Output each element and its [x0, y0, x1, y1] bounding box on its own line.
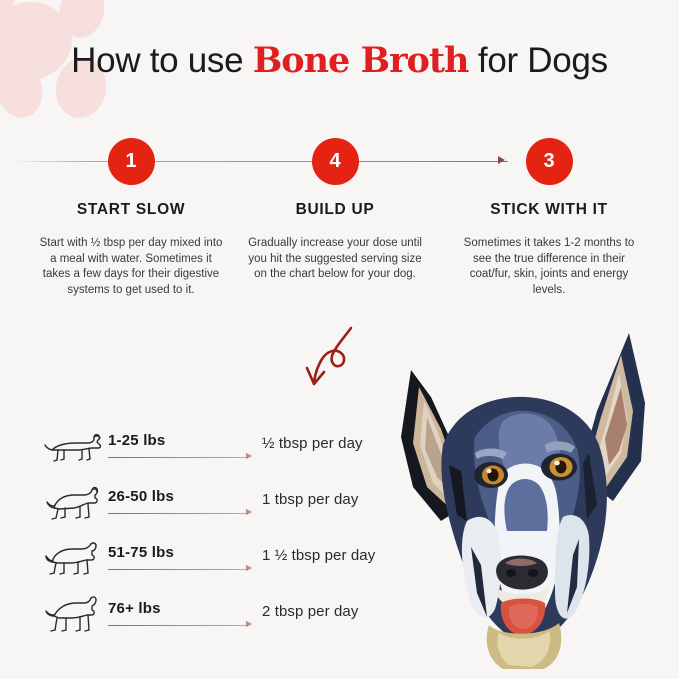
- dose-value-3: 1 ½ tbsp per day: [262, 547, 375, 564]
- step-label-1: START SLOW: [31, 201, 231, 219]
- row-connector-line-2: [108, 513, 246, 514]
- step-label-3: STICK WITH IT: [449, 201, 649, 219]
- table-row: 76+ lbs 2 tbsp per day: [0, 592, 420, 648]
- dose-value-4: 2 tbsp per day: [262, 603, 358, 620]
- row-connector-line-4: [108, 625, 246, 626]
- infographic-canvas: How to use Bone Broth for Dogs 1 START S…: [0, 0, 679, 679]
- title-prefix: How to use: [71, 41, 253, 80]
- step-item-3: 3 STICK WITH IT Sometimes it takes 1-2 m…: [449, 138, 649, 298]
- step-number-badge-1: 1: [108, 138, 155, 185]
- step-label-2: BUILD UP: [235, 201, 435, 219]
- title-accent: Bone Broth: [253, 40, 469, 81]
- curved-down-left-arrow-icon: [298, 322, 368, 394]
- table-row: 1-25 lbs ½ tbsp per day: [0, 424, 420, 480]
- row-connector-line-3: [108, 569, 246, 570]
- title-suffix: for Dogs: [469, 41, 608, 80]
- row-arrowhead-icon-4: [246, 621, 252, 627]
- large-dog-icon: [44, 540, 108, 582]
- xlarge-dog-icon: [44, 596, 108, 638]
- dosage-chart: 1-25 lbs ½ tbsp per day 26-50 lbs 1 tbsp…: [0, 424, 420, 648]
- step-number-badge-2: 4: [312, 138, 359, 185]
- row-arrowhead-icon-1: [246, 453, 252, 459]
- weight-range-2: 26-50 lbs: [108, 488, 174, 505]
- row-connector-line-1: [108, 457, 246, 458]
- row-arrowhead-icon-3: [246, 565, 252, 571]
- dog-portrait-illustration: [383, 325, 679, 670]
- paw-toe-shape-1: [55, 0, 110, 42]
- step-item-2: 4 BUILD UP Gradually increase your dose …: [235, 138, 435, 283]
- weight-range-1: 1-25 lbs: [108, 432, 165, 449]
- dose-value-1: ½ tbsp per day: [262, 435, 363, 452]
- dose-value-2: 1 tbsp per day: [262, 491, 358, 508]
- medium-dog-icon: [44, 484, 108, 526]
- table-row: 51-75 lbs 1 ½ tbsp per day: [0, 536, 420, 592]
- paw-toe-shape-4: [0, 0, 18, 17]
- step-body-1: Start with ½ tbsp per day mixed into a m…: [31, 236, 231, 298]
- row-arrowhead-icon-2: [246, 509, 252, 515]
- small-dog-icon: [44, 428, 108, 470]
- weight-range-4: 76+ lbs: [108, 600, 161, 617]
- step-item-1: 1 START SLOW Start with ½ tbsp per day m…: [31, 138, 231, 298]
- step-body-2: Gradually increase your dose until you h…: [235, 236, 435, 283]
- step-body-3: Sometimes it takes 1-2 months to see the…: [449, 236, 649, 298]
- table-row: 26-50 lbs 1 tbsp per day: [0, 480, 420, 536]
- step-number-badge-3: 3: [526, 138, 573, 185]
- weight-range-3: 51-75 lbs: [108, 544, 174, 561]
- page-title: How to use Bone Broth for Dogs: [0, 40, 679, 81]
